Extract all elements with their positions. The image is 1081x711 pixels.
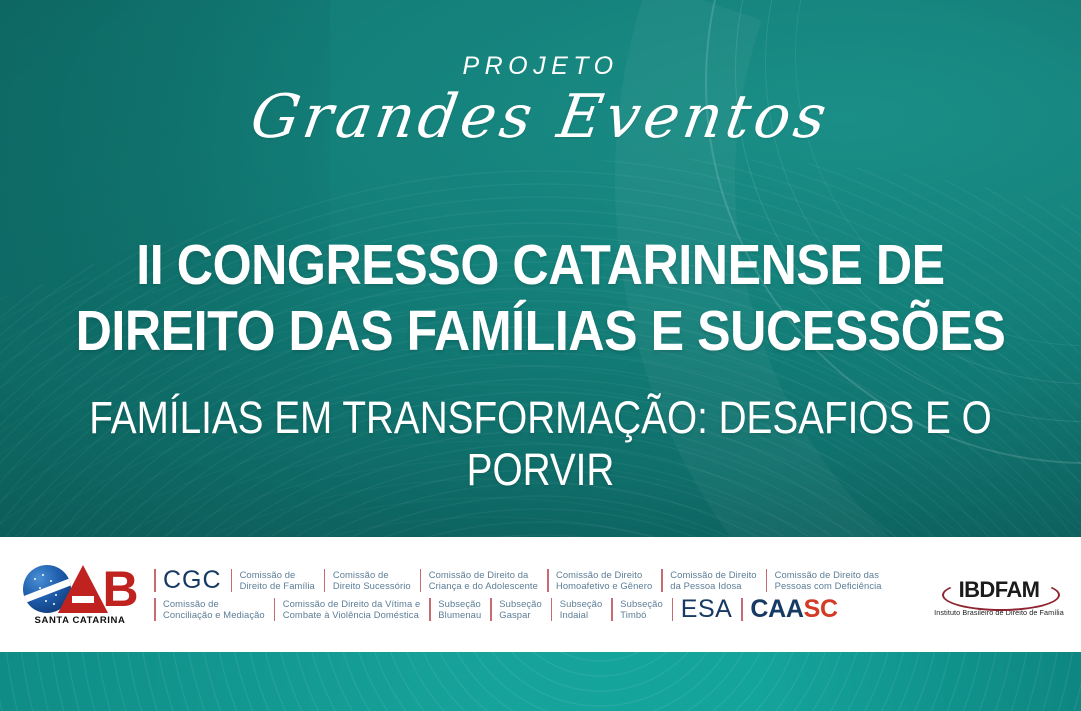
project-kicker: PROJETO xyxy=(0,52,1081,81)
commission-label: Comissão de Direito da Pessoa Idosa xyxy=(670,569,756,592)
commission-label: Comissão de Conciliação e Mediação xyxy=(163,598,265,621)
esa-logo: ESA xyxy=(672,597,742,622)
subsection-item: Subseção Blumenau xyxy=(429,597,490,622)
ibdfam-wordmark: IBDFAM xyxy=(959,579,1040,601)
subsection-label: Subseção Indaial xyxy=(560,598,603,621)
oab-state-label: SANTA CATARINA xyxy=(35,615,126,626)
subsection-item: Subseção Timbó xyxy=(611,597,672,622)
cgc-acronym: CGC xyxy=(163,568,222,593)
oab-mark-icon: B xyxy=(23,564,136,614)
caasc-part-1: CAA xyxy=(750,595,803,623)
event-banner: PROJETO Grandes Eventos II CONGRESSO CAT… xyxy=(0,0,1081,711)
subsection-label: Subseção Blumenau xyxy=(438,598,481,621)
sponsor-footer: B SANTA CATARINA CGC Comissão de Direito… xyxy=(0,537,1081,652)
page-title: II CONGRESSO CATARINENSE DE DIREITO DAS … xyxy=(0,232,1081,364)
ibdfam-mark-icon: IBDFAM xyxy=(936,573,1062,607)
commission-label: Comissão de Direito Sucessório xyxy=(333,569,411,592)
commission-item: Comissão de Direito das Pessoas com Defi… xyxy=(766,568,891,593)
commissions-row-1: CGC Comissão de Direito de Família Comis… xyxy=(154,568,923,593)
subsection-item: Subseção Gaspar xyxy=(490,597,551,622)
page-subtitle: FAMÍLIAS EM TRANSFORMAÇÃO: DESAFIOS E O … xyxy=(76,392,1006,496)
caasc-logo: CAASC xyxy=(741,597,846,622)
commission-label: Comissão de Direito Homoafetivo e Gênero xyxy=(556,569,652,592)
commission-label: Comissão de Direito da Criança e do Adol… xyxy=(429,569,538,592)
commissions-grid: CGC Comissão de Direito de Família Comis… xyxy=(154,568,923,622)
commission-item: Comissão de Direito Homoafetivo e Gênero xyxy=(547,568,661,593)
title-line-1: II CONGRESSO CATARINENSE DE xyxy=(65,232,1016,298)
commission-label: Comissão de Direito da Vítima e Combate … xyxy=(283,598,421,621)
subsection-label: Subseção Timbó xyxy=(620,598,663,621)
commission-item: Comissão de Conciliação e Mediação xyxy=(154,597,274,622)
commission-item: Comissão de Direito da Pessoa Idosa xyxy=(661,568,765,593)
commission-item: Comissão de Direito da Vítima e Combate … xyxy=(274,597,430,622)
caasc-part-2: SC xyxy=(804,595,838,623)
oab-logo: B SANTA CATARINA xyxy=(16,564,144,626)
ibdfam-logo: IBDFAM Instituto Brasileiro de Direito d… xyxy=(933,573,1065,617)
subsection-item: Subseção Indaial xyxy=(551,597,612,622)
commission-item: Comissão de Direito da Criança e do Adol… xyxy=(420,568,547,593)
commission-label: Comissão de Direito das Pessoas com Defi… xyxy=(775,569,882,592)
cgc-acronym-block: CGC xyxy=(154,568,231,593)
bottom-bar-sweep-lines xyxy=(0,652,1081,711)
oab-letter-a-icon xyxy=(58,565,108,613)
commission-label: Comissão de Direito de Família xyxy=(240,569,315,592)
commissions-row-2: Comissão de Conciliação e Mediação Comis… xyxy=(154,597,923,622)
commission-item: Comissão de Direito de Família xyxy=(231,568,324,593)
hero-text-block: PROJETO Grandes Eventos II CONGRESSO CAT… xyxy=(0,0,1081,537)
caasc-wordmark: CAASC xyxy=(750,597,837,622)
hero-section: PROJETO Grandes Eventos II CONGRESSO CAT… xyxy=(0,0,1081,537)
esa-wordmark: ESA xyxy=(681,597,733,622)
project-script-title: Grandes Eventos xyxy=(0,82,1081,152)
title-line-2: DIREITO DAS FAMÍLIAS E SUCESSÕES xyxy=(65,298,1016,364)
commission-item: Comissão de Direito Sucessório xyxy=(324,568,420,593)
bottom-accent-bar xyxy=(0,652,1081,711)
subsection-label: Subseção Gaspar xyxy=(499,598,542,621)
